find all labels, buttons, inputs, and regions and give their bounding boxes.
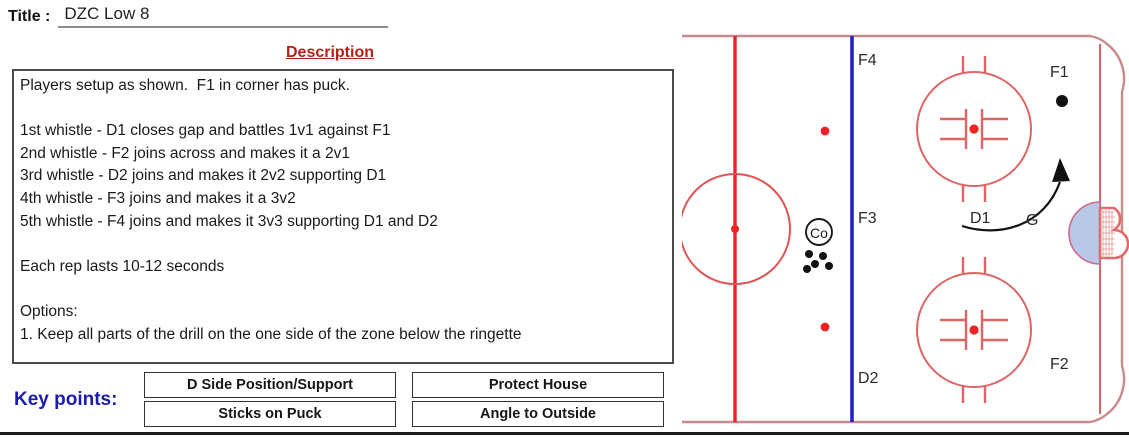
key-point-cell[interactable]: Sticks on Puck <box>144 401 396 427</box>
rink-label-f1: F1 <box>1050 64 1069 82</box>
svg-text:Co: Co <box>810 225 828 241</box>
title-label: Title : <box>8 8 50 28</box>
key-point-cell[interactable]: D Side Position/Support <box>144 372 396 398</box>
hockey-net <box>1100 208 1128 258</box>
key-point-cell[interactable]: Angle to Outside <box>412 401 664 427</box>
rink-label-goalie: G <box>1026 212 1038 230</box>
neutral-zone-dot <box>821 323 830 332</box>
faceoff-circle-lower <box>917 257 1031 403</box>
title-row: Title : DZC Low 8 <box>8 4 388 28</box>
puck-f1 <box>1056 95 1068 107</box>
key-points-label: Key points: <box>8 389 144 411</box>
description-box[interactable]: Players setup as shown. F1 in corner has… <box>12 69 674 364</box>
goal-crease <box>1069 202 1100 264</box>
rink-label-f4: F4 <box>858 52 877 70</box>
key-point-cell[interactable]: Protect House <box>412 372 664 398</box>
description-heading: Description <box>0 44 660 62</box>
rink-label-d1: D1 <box>970 210 990 228</box>
description-text: Players setup as shown. F1 in corner has… <box>20 75 666 346</box>
neutral-zone-dot <box>821 127 830 136</box>
title-input[interactable]: DZC Low 8 <box>58 4 388 28</box>
bottom-divider <box>0 432 1129 435</box>
rink-label-d2: D2 <box>858 370 878 388</box>
center-ice-dot <box>731 225 739 233</box>
rink-label-f2: F2 <box>1050 356 1069 374</box>
rink-diagram[interactable]: Co F4 F1 F3 D1 G D2 F2 <box>682 30 1129 429</box>
rink-label-f3: F3 <box>858 210 877 228</box>
puck-pile <box>803 250 833 273</box>
faceoff-circle-upper <box>917 56 1031 202</box>
key-points-section: Key points: D Side Position/Support Prot… <box>8 372 664 427</box>
coach-marker: Co <box>806 219 832 245</box>
key-points-grid: D Side Position/Support Protect House St… <box>144 372 664 427</box>
